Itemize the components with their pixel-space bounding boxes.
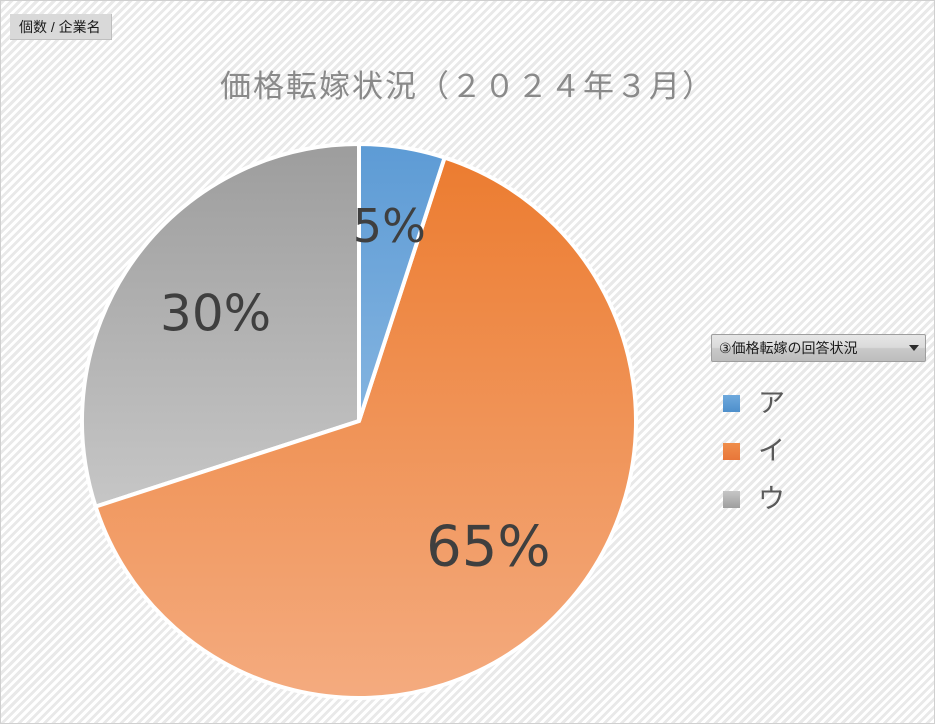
chart-title: 価格転嫁状況（２０２４年３月） (1, 61, 934, 106)
legend-item-label: イ (758, 438, 785, 465)
legend-items: ア イ ウ (711, 379, 926, 523)
measure-field-caption[interactable]: 個数 / 企業名 (10, 14, 112, 40)
legend-item-label: ウ (758, 486, 785, 513)
pie-svg: 5% 65% 30% (80, 142, 638, 700)
chart-canvas: 個数 / 企業名 価格転嫁状況（２０２４年３月） (0, 0, 935, 724)
chevron-down-icon[interactable] (909, 345, 919, 351)
pie-label-a: 5% (353, 199, 426, 253)
pie-label-u: 30% (160, 284, 271, 342)
legend-item-u[interactable]: ウ (723, 475, 926, 523)
legend-item-label: ア (758, 390, 785, 417)
legend-item-a[interactable]: ア (723, 379, 926, 427)
pie-label-i: 65% (426, 514, 550, 579)
legend: ③価格転嫁の回答状況 ア イ ウ (711, 334, 926, 511)
pie-chart: 5% 65% 30% (80, 142, 638, 700)
legend-swatch-blue-icon (723, 395, 740, 412)
legend-item-i[interactable]: イ (723, 427, 926, 475)
legend-swatch-orange-icon (723, 443, 740, 460)
legend-filter-label: ③価格転嫁の回答状況 (719, 335, 903, 361)
legend-filter-button[interactable]: ③価格転嫁の回答状況 (711, 334, 926, 362)
legend-swatch-grey-icon (723, 491, 740, 508)
